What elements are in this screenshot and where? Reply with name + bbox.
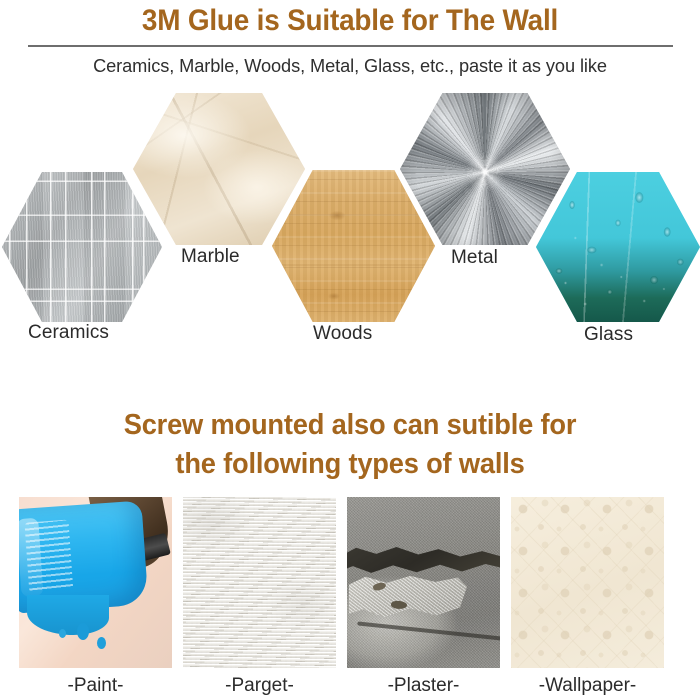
surface-hexagon-glass[interactable] (536, 172, 700, 322)
screw-mount-heading-line-2: the following types of walls (21, 445, 679, 484)
page-subtitle: Ceramics, Marble, Woods, Metal, Glass, e… (5, 53, 695, 79)
title-divider (28, 45, 673, 47)
wall-caption-parget: -Parget- (183, 675, 336, 697)
surface-label-marble: Marble (181, 246, 240, 268)
wall-card-paint[interactable]: -Paint- (19, 497, 172, 668)
screw-mount-heading: Screw mounted also can sutible for the f… (21, 406, 679, 484)
wall-caption-plaster: -Plaster- (347, 675, 500, 697)
surface-label-metal: Metal (451, 247, 498, 269)
wall-caption-wallpaper: -Wallpaper- (511, 675, 664, 697)
wall-card-parget[interactable]: -Parget- (183, 497, 336, 668)
wall-photo-wallpaper (511, 497, 664, 668)
wall-type-group: -Paint- -Parget- -Plaster- -Wallpaper- (0, 497, 700, 700)
wall-photo-plaster (347, 497, 500, 668)
surface-label-glass: Glass (584, 324, 633, 346)
wall-caption-paint: -Paint- (19, 675, 172, 697)
wall-photo-paint (19, 497, 172, 668)
header: 3M Glue is Suitable for The Wall Ceramic… (0, 0, 700, 86)
surface-label-ceramics: Ceramics (28, 322, 109, 344)
surface-label-woods: Woods (313, 323, 372, 345)
wall-photo-parget (183, 497, 336, 668)
wall-card-wallpaper[interactable]: -Wallpaper- (511, 497, 664, 668)
wall-card-plaster[interactable]: -Plaster- (347, 497, 500, 668)
screw-mount-heading-line-1: Screw mounted also can sutible for (21, 406, 679, 445)
page-title: 3M Glue is Suitable for The Wall (25, 1, 676, 41)
surface-hexagon-group: Ceramics Marble Woods Metal Glass (0, 86, 700, 386)
